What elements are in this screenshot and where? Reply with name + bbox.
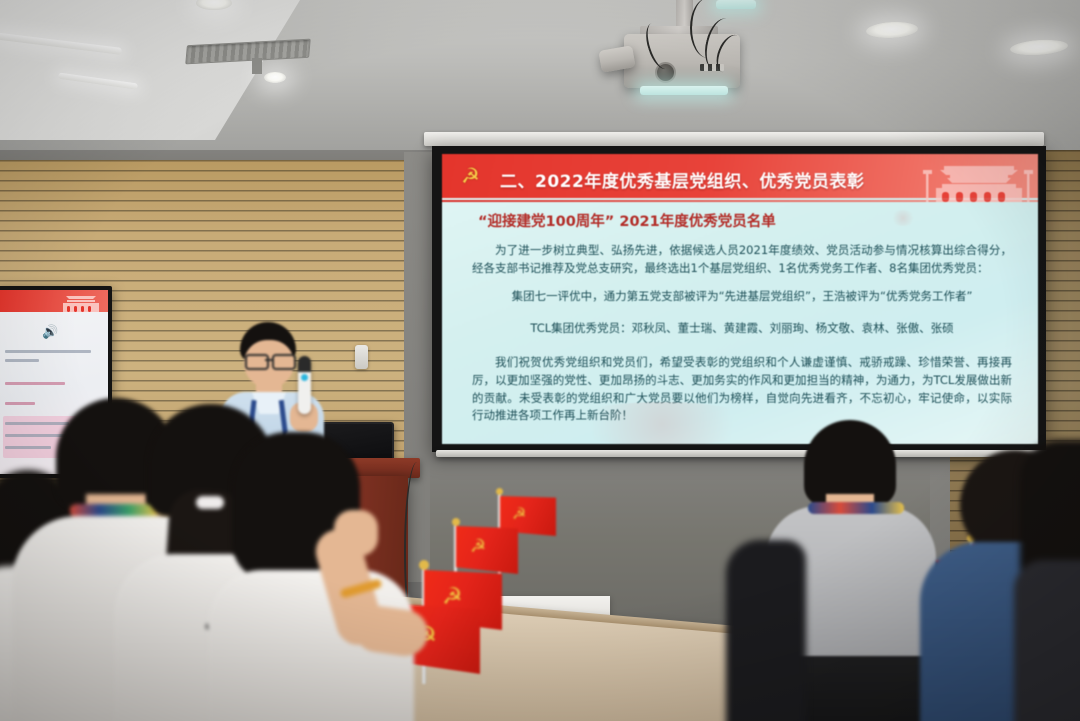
hammer-sickle-icon: ☭ bbox=[512, 506, 526, 522]
side-monitor-text-line bbox=[5, 382, 65, 385]
slide-glare-spot bbox=[890, 210, 916, 226]
slide-paragraph-2: 集团七一评优中，通力第五党支部被评为“先进基层党组织”，王浩被评为“优秀党务工作… bbox=[472, 288, 1012, 306]
slide-banner-title: 二、2022年度优秀基层党组织、优秀党员表彰 bbox=[500, 167, 864, 192]
projector-top-glow bbox=[716, 0, 756, 9]
desk-flag-group-left: ☭ ☭ ☭ ☭ bbox=[400, 470, 610, 721]
attendee-third bbox=[214, 432, 424, 721]
cpc-hammer-sickle-icon: ☭ bbox=[461, 166, 480, 187]
desk-party-flag: ☭ bbox=[456, 526, 518, 574]
slide-reflection-lower bbox=[562, 402, 762, 444]
slide-paragraph-3: TCL集团优秀党员：邓秋凤、董士瑞、黄建霞、刘丽珣、杨文敬、袁林、张傲、张硕 bbox=[472, 320, 1012, 338]
projector-light-output bbox=[640, 86, 728, 95]
meeting-room-photo: ☭ 二、2022年度优秀基层党组织、优秀党员表彰 bbox=[0, 0, 1080, 721]
flag-finial-icon bbox=[496, 488, 503, 495]
attendee-shirt bbox=[1014, 560, 1080, 721]
side-monitor-tiananmen-icon bbox=[58, 292, 104, 312]
attendee-dark-right bbox=[1020, 440, 1080, 721]
tiananmen-gate-icon bbox=[920, 156, 1038, 202]
microphone-led bbox=[301, 374, 308, 381]
attendee-hand bbox=[334, 510, 378, 556]
screen-roller-housing bbox=[424, 132, 1044, 146]
presentation-slide: ☭ 二、2022年度优秀基层党组织、优秀党员表彰 bbox=[442, 154, 1038, 444]
slide-paragraph-1: 为了进一步树立典型、弘扬先进，依据候选人员2021年度绩效、党员活动参与情况核算… bbox=[472, 242, 1012, 278]
slide-subtitle: “迎接建党100周年” 2021年度优秀党员名单 bbox=[478, 210, 776, 231]
side-monitor-text-line bbox=[5, 402, 35, 405]
attendee-dark-mid bbox=[726, 540, 806, 721]
side-monitor-text-line bbox=[5, 359, 39, 362]
flag-finial-icon bbox=[452, 518, 460, 526]
lanyard bbox=[808, 502, 904, 514]
downlight-vent bbox=[264, 72, 286, 83]
hammer-sickle-icon: ☭ bbox=[442, 586, 463, 609]
glasses-icon bbox=[244, 354, 294, 366]
side-monitor-text-line bbox=[5, 350, 91, 353]
screen-bottom-bar bbox=[436, 450, 1048, 457]
speaker-icon: 🔊 bbox=[42, 326, 58, 339]
hammer-sickle-icon: ☭ bbox=[470, 538, 486, 556]
vent-stem bbox=[252, 58, 262, 74]
